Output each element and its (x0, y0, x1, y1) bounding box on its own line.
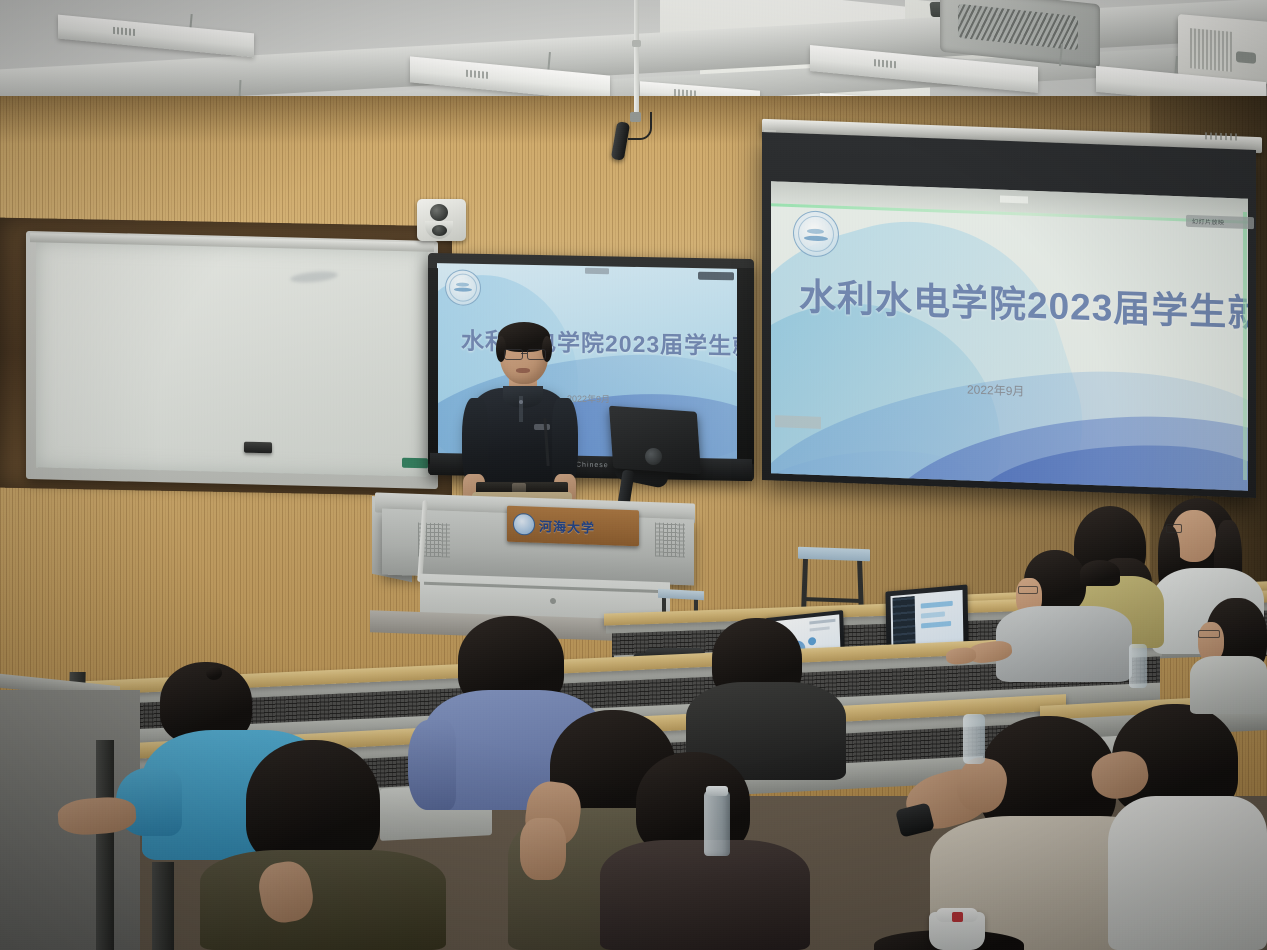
slide-top-tab (1000, 195, 1028, 203)
hohai-crest-icon (513, 513, 535, 536)
hohai-university-emblem (793, 210, 839, 258)
speaker-mouth (516, 368, 530, 373)
speaker-shirt-button (519, 400, 523, 404)
flat-panel-right-toolbar[interactable] (737, 268, 754, 464)
slideshow-status-label: 幻灯片放映 (1192, 216, 1225, 226)
desk-leg (96, 740, 114, 950)
microphone-cable (628, 112, 652, 140)
podium-speaker-grille-right (655, 522, 685, 557)
lamp-label-icon (466, 70, 488, 79)
whiteboard-surface[interactable] (36, 241, 428, 477)
arm-blue-shirt (408, 720, 456, 810)
blue-top-stool-1 (798, 547, 870, 562)
torso-white-shirt (1108, 796, 1267, 950)
water-bottle (704, 790, 730, 856)
slide-date: 2022年9月 (967, 380, 1024, 399)
bottle-cap (706, 786, 728, 796)
podium-nameplate-text: 河海大学 (539, 515, 595, 536)
audience-head-back (1080, 560, 1120, 586)
projector-edge-fringe (1243, 212, 1247, 480)
projector-lens-icon (1236, 51, 1256, 64)
water-bottle (963, 714, 985, 764)
laptop-content-bar (810, 626, 830, 631)
emblem-wave-icon (454, 287, 472, 291)
speaker-collar (503, 386, 543, 408)
podium-nameplate: 河海大学 (507, 506, 639, 547)
water-bottle (1129, 644, 1147, 688)
slide-left-chip (775, 415, 821, 429)
hair-tuft (206, 666, 222, 680)
camera-lens-icon (430, 204, 448, 221)
laptop-content-bar (921, 621, 951, 629)
torso-dark-shirt (200, 850, 446, 950)
whiteboard-green-tab (402, 458, 428, 469)
laptop-avatar-icon (808, 637, 816, 646)
microphone-collar (632, 40, 641, 47)
torso-gray-shirt (996, 606, 1132, 682)
flat-panel-corner-badge (698, 272, 734, 281)
lecture-hall-photo: 水利水电学院2023届学生就业动员会 2022年9月 Chinese 水利水电学… (0, 0, 1267, 950)
laptop-icon-grid (893, 596, 916, 648)
speaker-shirt-logo (534, 424, 550, 430)
laptop-content-bar (921, 601, 953, 609)
screen-roller-label-icon (1205, 132, 1239, 140)
lamp-label-icon (874, 59, 896, 68)
hohai-university-emblem (445, 269, 481, 306)
projected-slide: 水利水电学院2023届学生就业动员会 2022年9月 (771, 181, 1248, 490)
podium-cabinet-knob[interactable] (550, 598, 556, 604)
emblem-wave-icon (456, 282, 469, 286)
speaker-glasses-left-lens (504, 349, 523, 360)
speaker-glasses-right-lens (527, 349, 546, 360)
monitor-arm-joint (645, 448, 662, 465)
speaker-glasses-bridge (521, 353, 527, 354)
eyeglasses (1166, 524, 1182, 533)
whiteboard-eraser[interactable] (244, 442, 272, 454)
hair (246, 740, 380, 866)
wrist-watch (895, 802, 935, 837)
projector-vent-icon (1190, 28, 1232, 72)
torso-maroon-tshirt (600, 840, 810, 950)
desk-leg (152, 862, 174, 950)
laptop-content-bar (809, 619, 835, 625)
flat-panel-left-toolbar[interactable] (428, 268, 438, 464)
torso-light-shirt (1190, 656, 1267, 714)
cup-tab-icon (952, 912, 963, 922)
microphone-pole (634, 0, 639, 116)
laptop-content-bar (921, 611, 945, 618)
eyeglasses (1198, 630, 1220, 638)
camera-dome-lens-icon (432, 225, 447, 236)
flat-panel-top-indicator (585, 268, 609, 274)
forearm (520, 818, 566, 880)
eyeglasses (1018, 586, 1038, 594)
lamp-label-icon (113, 27, 135, 36)
